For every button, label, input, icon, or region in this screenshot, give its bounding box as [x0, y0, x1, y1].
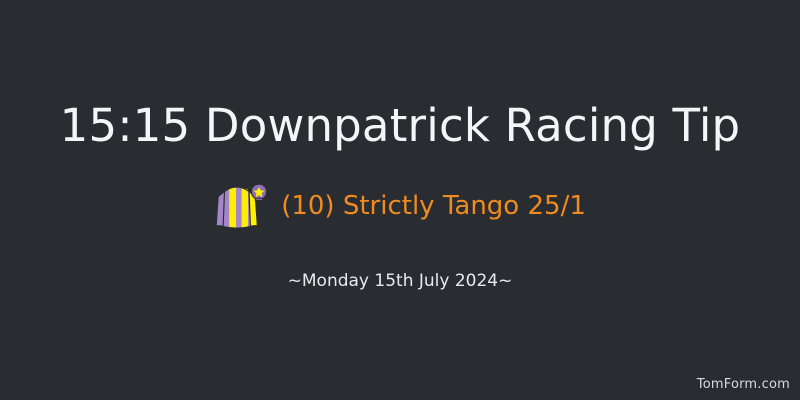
- racing-tip-card: 15:15 Downpatrick Racing Tip: [0, 0, 800, 400]
- page-title: 15:15 Downpatrick Racing Tip: [60, 100, 741, 152]
- footer: TomForm.com: [697, 377, 790, 393]
- tip-row: (10) Strictly Tango 25/1: [0, 182, 800, 230]
- racing-silk-icon: [214, 181, 268, 229]
- brand-watermark: TomForm.com: [697, 377, 790, 393]
- race-date: ~Monday 15th July 2024~: [288, 270, 513, 292]
- date-row: ~Monday 15th July 2024~: [0, 270, 800, 292]
- tip-inner: (10) Strictly Tango 25/1: [214, 182, 586, 230]
- title-row: 15:15 Downpatrick Racing Tip: [0, 100, 800, 152]
- tip-selection-label: (10) Strictly Tango 25/1: [281, 189, 586, 223]
